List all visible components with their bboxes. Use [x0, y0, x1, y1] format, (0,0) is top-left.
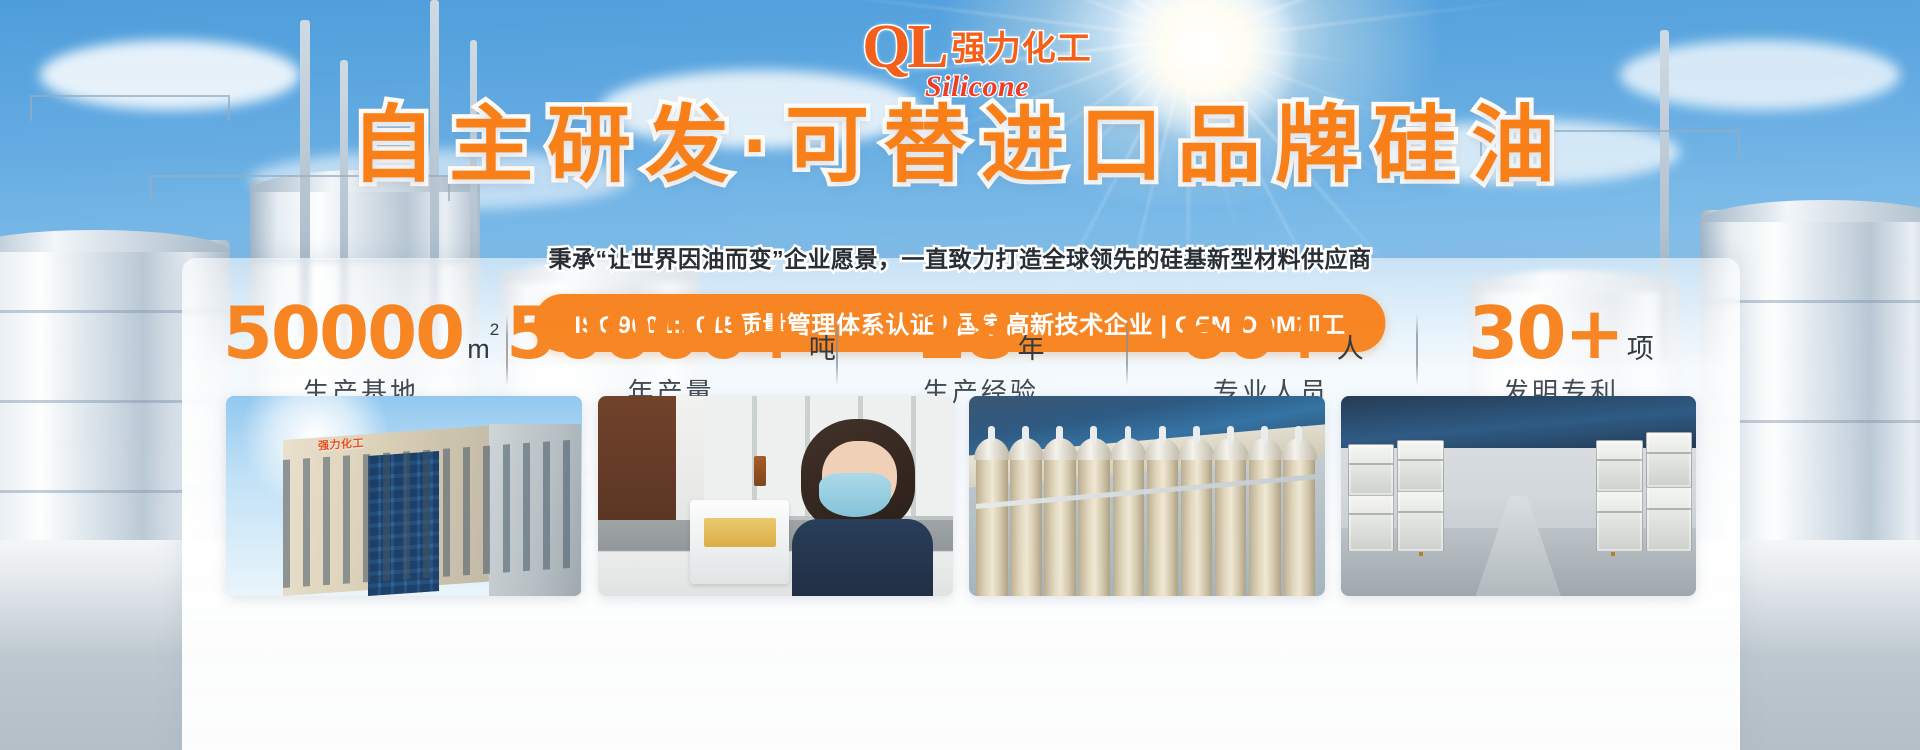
lab-door — [598, 396, 676, 540]
stat-number: 50000 — [223, 300, 464, 366]
stat-unit: 人 — [1337, 327, 1364, 366]
photo-silo-reactors[interactable] — [969, 396, 1325, 596]
stat-unit-text: 项 — [1627, 334, 1654, 364]
stats-row: 50000 m2 生产基地 50000+ 吨 年产量 28 年 生产经验 60+… — [216, 300, 1706, 398]
photo-warehouse[interactable] — [1341, 396, 1697, 596]
stat-item: 50000+ 吨 年产量 — [506, 300, 836, 409]
logo-mark: QL — [862, 16, 946, 78]
hero-subtitle: 秉承“让世界因油而变”企业愿景，一直致力打造全球领先的硅基新型材料供应商 — [0, 240, 1920, 274]
stat-unit-text: m — [467, 334, 490, 364]
silo-array — [976, 452, 1317, 596]
hero-headline-text: 自主研发·可替进口品牌硅油 — [351, 98, 1569, 192]
stat-item: 28 年 生产经验 — [836, 300, 1126, 409]
stat-unit-text: 年 — [1018, 334, 1045, 364]
stat-unit-text: 人 — [1337, 334, 1364, 364]
stat-number: 60+ — [1178, 300, 1333, 366]
reagent-bottle — [754, 456, 766, 486]
photo-office-building[interactable]: 强力化工 — [226, 396, 582, 596]
company-logo[interactable]: QL 强力化工 Silicone — [862, 18, 1092, 110]
window-grid — [283, 439, 582, 588]
technician-uniform — [792, 519, 932, 596]
logo-company-name: 强力化工 — [952, 32, 1092, 66]
stat-item: 60+ 人 专业人员 — [1126, 300, 1416, 409]
stat-unit: 吨 — [809, 327, 836, 366]
hero-headline: 自主研发·可替进口品牌硅油 — [0, 103, 1920, 187]
photo-strip: 强力化工 — [226, 396, 1696, 596]
warehouse-roof — [1341, 396, 1697, 448]
stat-unit: m2 — [467, 333, 499, 365]
stat-item: 50000 m2 生产基地 — [216, 300, 506, 409]
stat-unit-text: 吨 — [809, 334, 836, 364]
stat-number: 30+ — [1468, 300, 1623, 366]
lab-instrument — [690, 500, 790, 584]
stat-number: 28 — [917, 300, 1013, 366]
stat-unit: 项 — [1627, 327, 1654, 366]
stat-unit-superscript: 2 — [490, 320, 499, 339]
face-mask-icon — [819, 473, 891, 517]
stat-item: 30+ 项 发明专利 — [1416, 300, 1706, 409]
photo-laboratory[interactable] — [598, 396, 954, 596]
stat-number: 50000+ — [506, 300, 805, 366]
promo-banner: QL 强力化工 Silicone 自主研发·可替进口品牌硅油 秉承“让世界因油而… — [0, 0, 1920, 750]
stat-unit: 年 — [1018, 327, 1045, 366]
lab-technician — [789, 412, 938, 596]
building-signage: 强力化工 — [318, 434, 364, 453]
